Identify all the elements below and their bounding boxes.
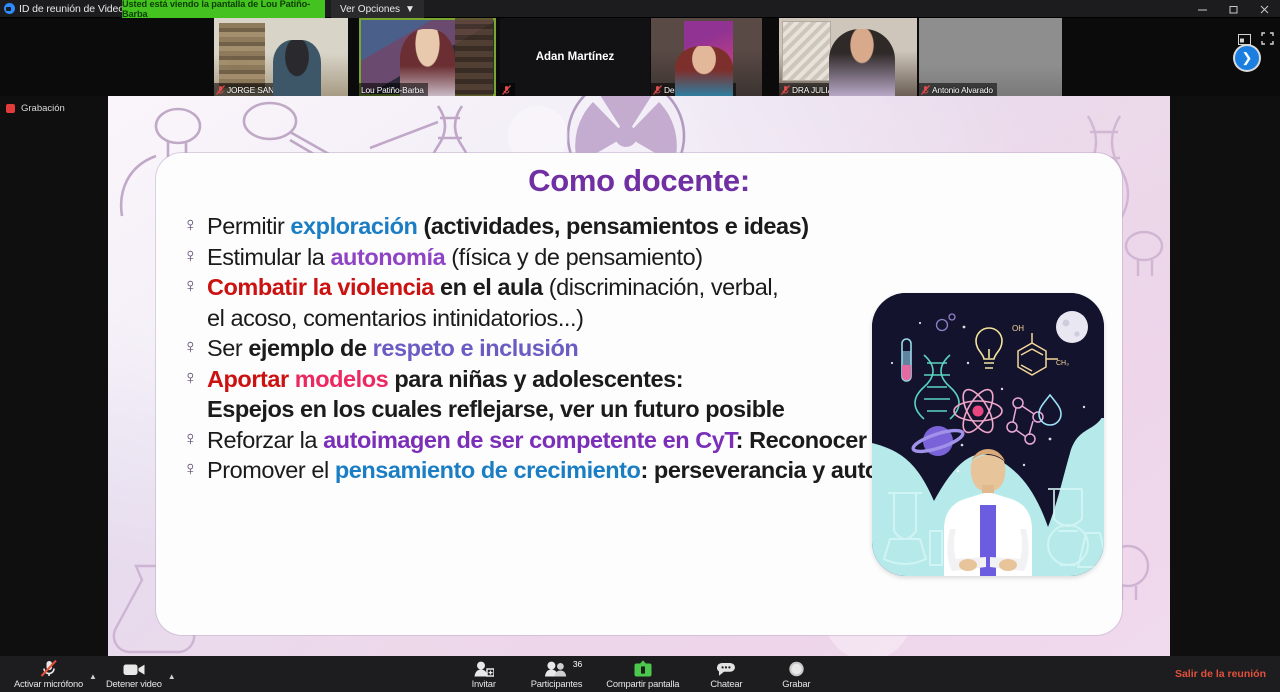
- bullet-highlight: autonomía: [330, 244, 445, 270]
- bullet-text: ejemplo de: [248, 335, 372, 361]
- share-screen-button[interactable]: Compartir pantalla: [600, 660, 685, 689]
- tile-name-badge: Denis Vazquez CC: [651, 83, 736, 96]
- bullet-highlight: exploración: [290, 213, 417, 239]
- participants-icon: [545, 660, 567, 677]
- bullet-text: para niñas y adolescentes:: [388, 366, 683, 392]
- participant-name: Antonio Alvarado: [932, 85, 993, 95]
- video-tile[interactable]: JORGE SANTELLA: [214, 18, 348, 96]
- toolbar-center-group: Invitar 36 Participantes: [0, 660, 1280, 689]
- view-options-button[interactable]: Ver Opciones ▼: [331, 0, 424, 18]
- microphone-muted-icon: [502, 85, 511, 95]
- meeting-toolbar: Activar micrófono ▲ Detener video ▲: [0, 656, 1280, 692]
- participant-name: DRA JULIANA MO...: [792, 85, 866, 95]
- participants-button[interactable]: 36 Participantes: [525, 660, 589, 689]
- chat-label: Chatear: [710, 678, 742, 689]
- bullet-item: ♀ Estimular la autonomía (física y de pe…: [182, 242, 1112, 273]
- slide-content-card: Como docente: ♀ Permitir exploración (ac…: [156, 153, 1122, 635]
- bullet-text: en el aula: [434, 274, 543, 300]
- participant-filmstrip[interactable]: JORGE SANTELLA Lou Patiño-Barba Adan Mar…: [0, 18, 1280, 96]
- title-bar: ID de reunión de Videoconfere Usted está…: [0, 0, 1280, 18]
- venus-symbol-icon: ♀: [182, 333, 198, 362]
- recording-indicator[interactable]: Grabación: [6, 103, 65, 114]
- bullet-highlight: autoimagen de ser competente en CyT: [323, 427, 736, 453]
- tile-name-badge: Antonio Alvarado: [919, 83, 997, 96]
- fullscreen-icon[interactable]: [1261, 32, 1274, 50]
- leave-meeting-button[interactable]: Salir de la reunión: [1175, 668, 1266, 680]
- recording-label: Grabación: [21, 103, 65, 114]
- tile-name-badge: DRA JULIANA MO...: [779, 83, 870, 96]
- zoom-meeting-window: ID de reunión de Videoconfere Usted está…: [0, 0, 1280, 692]
- venus-symbol-icon: ♀: [182, 211, 198, 240]
- chat-button[interactable]: Chatear: [697, 660, 755, 689]
- invite-label: Invitar: [472, 678, 496, 689]
- microphone-muted-icon: [781, 85, 790, 95]
- minimize-button[interactable]: [1187, 0, 1218, 18]
- participant-name: Adan Martínez: [500, 18, 650, 96]
- tile-name-badge: JORGE SANTELLA: [214, 83, 303, 96]
- record-button[interactable]: Grabar: [767, 660, 825, 689]
- participants-label: Participantes: [531, 678, 583, 689]
- bullet-highlight: Aportar: [207, 366, 295, 392]
- venus-symbol-icon: ♀: [182, 272, 198, 301]
- svg-text:OH: OH: [1012, 324, 1024, 333]
- view-options-label: Ver Opciones: [340, 4, 400, 15]
- record-circle-icon: [788, 660, 805, 677]
- invite-button[interactable]: Invitar: [455, 660, 513, 689]
- video-tile[interactable]: Antonio Alvarado: [919, 18, 1062, 96]
- bullet-text: Estimular la: [207, 244, 330, 270]
- venus-symbol-icon: ♀: [182, 364, 198, 393]
- participants-count-badge: 36: [573, 659, 582, 669]
- video-tile-active-speaker[interactable]: Lou Patiño-Barba: [359, 18, 496, 96]
- scientist-illustration: OH CH₃: [872, 293, 1104, 576]
- bullet-text: (física y de pensamiento): [445, 244, 702, 270]
- bullet-text: (discriminación, verbal,: [543, 274, 779, 300]
- share-screen-label: Compartir pantalla: [606, 678, 679, 689]
- bullet-item: ♀ Permitir exploración (actividades, pen…: [182, 211, 1112, 242]
- bullet-text: Reforzar la: [207, 427, 323, 453]
- video-tile-no-video[interactable]: Adan Martínez: [500, 18, 650, 96]
- participant-name: Denis Vazquez CC: [664, 85, 732, 95]
- chat-bubble-icon: [716, 660, 736, 677]
- tile-name-badge: [500, 83, 515, 96]
- bullet-text: Promover el: [207, 457, 335, 483]
- microphone-muted-icon: [216, 85, 225, 95]
- venus-symbol-icon: ♀: [182, 425, 198, 454]
- bullet-highlight: Combatir la violencia: [207, 274, 434, 300]
- add-person-icon: [474, 660, 494, 677]
- share-screen-icon: [634, 660, 652, 677]
- view-layout-icon[interactable]: [1238, 32, 1251, 50]
- close-button[interactable]: [1249, 0, 1280, 18]
- record-label: Grabar: [782, 678, 810, 689]
- microphone-muted-icon: [653, 85, 662, 95]
- bullet-text: (actividades, pensamientos e ideas): [417, 213, 808, 239]
- slide-title: Como docente:: [156, 163, 1122, 199]
- bullet-text: Ser: [207, 335, 248, 361]
- microphone-muted-icon: [921, 85, 930, 95]
- svg-text:CH₃: CH₃: [1056, 360, 1069, 367]
- video-tile[interactable]: DRA JULIANA MO...: [779, 18, 917, 96]
- video-tile[interactable]: Denis Vazquez CC: [651, 18, 762, 96]
- chevron-down-icon: ▼: [405, 4, 415, 15]
- shared-screen-area: Como docente: ♀ Permitir exploración (ac…: [108, 96, 1170, 656]
- bullet-highlight: pensamiento de crecimiento: [335, 457, 641, 483]
- maximize-button[interactable]: [1218, 0, 1249, 18]
- tile-name-badge: Lou Patiño-Barba: [359, 83, 428, 96]
- filmstrip-view-controls: [1238, 32, 1274, 50]
- bullet-highlight: respeto e inclusión: [373, 335, 579, 361]
- participant-name: JORGE SANTELLA: [227, 85, 299, 95]
- venus-symbol-icon: ♀: [182, 242, 198, 271]
- bullet-highlight: modelos: [295, 366, 388, 392]
- sharing-banner-text: Usted está viendo la pantalla de Lou Pat…: [122, 0, 325, 19]
- bullet-text: Permitir: [207, 213, 290, 239]
- record-stop-icon: [6, 104, 15, 113]
- zoom-logo-icon: [4, 3, 15, 14]
- screen-sharing-banner: Usted está viendo la pantalla de Lou Pat…: [122, 0, 325, 18]
- venus-symbol-icon: ♀: [182, 455, 198, 484]
- window-controls: [1187, 0, 1280, 18]
- illustration-graphics: OH CH₃: [872, 293, 1104, 576]
- participant-name: Lou Patiño-Barba: [361, 85, 424, 95]
